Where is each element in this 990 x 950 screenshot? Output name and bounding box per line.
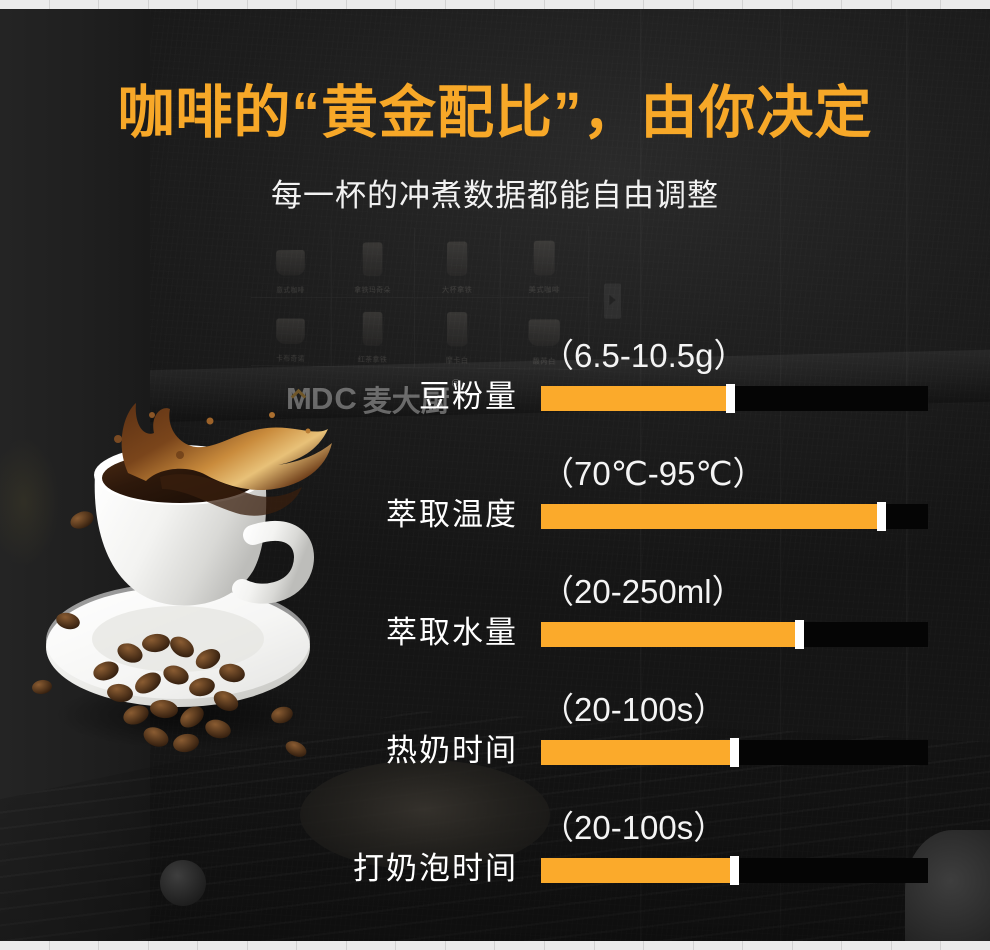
strip-tick [99, 0, 149, 9]
promo-page: 意式咖啡 拿铁玛奇朵 大杯拿铁 美式咖啡 卡布奇诺 红茶拿铁 [0, 0, 990, 950]
slider-track[interactable] [541, 622, 928, 647]
strip-tick [842, 0, 892, 9]
strip-tick [545, 0, 595, 9]
slider-track[interactable] [541, 740, 928, 765]
cup-icon [276, 250, 305, 276]
slider-name-label: 萃取水量 [0, 612, 518, 654]
strip-tick [793, 0, 843, 9]
strip-tick [743, 0, 793, 9]
strip-tick [545, 941, 595, 950]
strip-tick [297, 0, 347, 9]
strip-tick [347, 0, 397, 9]
brew-parameter-sliders: （6.5-10.5g） 豆粉量 （70℃-95℃） 萃取温度 （20-250ml… [0, 300, 990, 890]
page-subtitle: 每一杯的冲煮数据都能自由调整 [0, 170, 990, 215]
slider-name-label: 豆粉量 [0, 376, 518, 418]
slider-row-bean-powder-amount: （6.5-10.5g） 豆粉量 [0, 300, 990, 418]
cup-icon [363, 242, 383, 276]
strip-tick [248, 941, 298, 950]
slider-thumb[interactable] [795, 620, 804, 649]
slider-fill [541, 622, 796, 647]
strip-tick [50, 0, 100, 9]
strip-tick [644, 941, 694, 950]
strip-tick [396, 0, 446, 9]
slider-fill [541, 386, 727, 411]
slider-row-milk-froth-time: （20-100s） 打奶泡时间 [0, 772, 990, 890]
slider-track[interactable] [541, 504, 928, 529]
drink-menu-item: 意式咖啡 [251, 229, 332, 298]
slider-name-label: 打奶泡时间 [0, 848, 518, 890]
top-edge-strip [0, 0, 990, 9]
strip-tick [297, 941, 347, 950]
strip-tick [347, 941, 397, 950]
slider-name-label: 热奶时间 [0, 730, 518, 772]
strip-tick [248, 0, 298, 9]
strip-tick [743, 941, 793, 950]
strip-tick [0, 0, 50, 9]
cup-icon [534, 240, 555, 275]
slider-track[interactable] [541, 386, 928, 411]
slider-range-label: （70℃-95℃） [541, 457, 766, 490]
drink-menu-item: 大杯拿铁 [415, 227, 501, 298]
strip-tick [149, 941, 199, 950]
strip-tick [793, 941, 843, 950]
strip-tick [396, 941, 446, 950]
slider-track[interactable] [541, 858, 928, 883]
strip-tick [198, 941, 248, 950]
drink-label: 拿铁玛奇朵 [332, 285, 414, 295]
slider-row-extraction-water-volume: （20-250ml） 萃取水量 [0, 536, 990, 654]
strip-tick [595, 941, 645, 950]
strip-tick [694, 941, 744, 950]
slider-thumb[interactable] [726, 384, 735, 413]
drink-menu-item: 拿铁玛奇朵 [332, 228, 415, 298]
strip-tick [842, 941, 892, 950]
slider-range-label: （20-100s） [541, 693, 726, 726]
strip-tick [892, 941, 942, 950]
slider-fill [541, 740, 731, 765]
strip-tick [99, 941, 149, 950]
slider-fill [541, 858, 731, 883]
slider-thumb[interactable] [877, 502, 886, 531]
heading-block: 咖啡的“黄金配比”，由你决定 每一杯的冲煮数据都能自由调整 [0, 84, 990, 215]
slider-row-extraction-temperature: （70℃-95℃） 萃取温度 [0, 418, 990, 536]
strip-tick [446, 941, 496, 950]
strip-tick [892, 0, 942, 9]
slider-range-label: （20-250ml） [541, 575, 745, 608]
slider-thumb[interactable] [730, 738, 739, 767]
drink-menu-item: 美式咖啡 [501, 226, 589, 298]
strip-tick [595, 0, 645, 9]
slider-range-label: （6.5-10.5g） [541, 339, 746, 372]
drink-label: 大杯拿铁 [415, 285, 500, 295]
slider-name-label: 萃取温度 [0, 494, 518, 536]
strip-tick [149, 0, 199, 9]
strip-tick [941, 0, 990, 9]
slider-thumb[interactable] [730, 856, 739, 885]
page-title: 咖啡的“黄金配比”，由你决定 [0, 84, 990, 144]
strip-tick [446, 0, 496, 9]
strip-tick [495, 0, 545, 9]
drink-label: 意式咖啡 [251, 285, 331, 295]
strip-tick [941, 941, 990, 950]
strip-tick [198, 0, 248, 9]
bottom-edge-strip [0, 941, 990, 950]
slider-fill [541, 504, 878, 529]
drink-label: 美式咖啡 [501, 285, 588, 295]
slider-range-label: （20-100s） [541, 811, 726, 844]
strip-tick [0, 941, 50, 950]
strip-tick [495, 941, 545, 950]
slider-row-milk-heating-time: （20-100s） 热奶时间 [0, 654, 990, 772]
strip-tick [50, 941, 100, 950]
strip-tick [694, 0, 744, 9]
strip-tick [644, 0, 694, 9]
cup-icon [447, 241, 467, 275]
